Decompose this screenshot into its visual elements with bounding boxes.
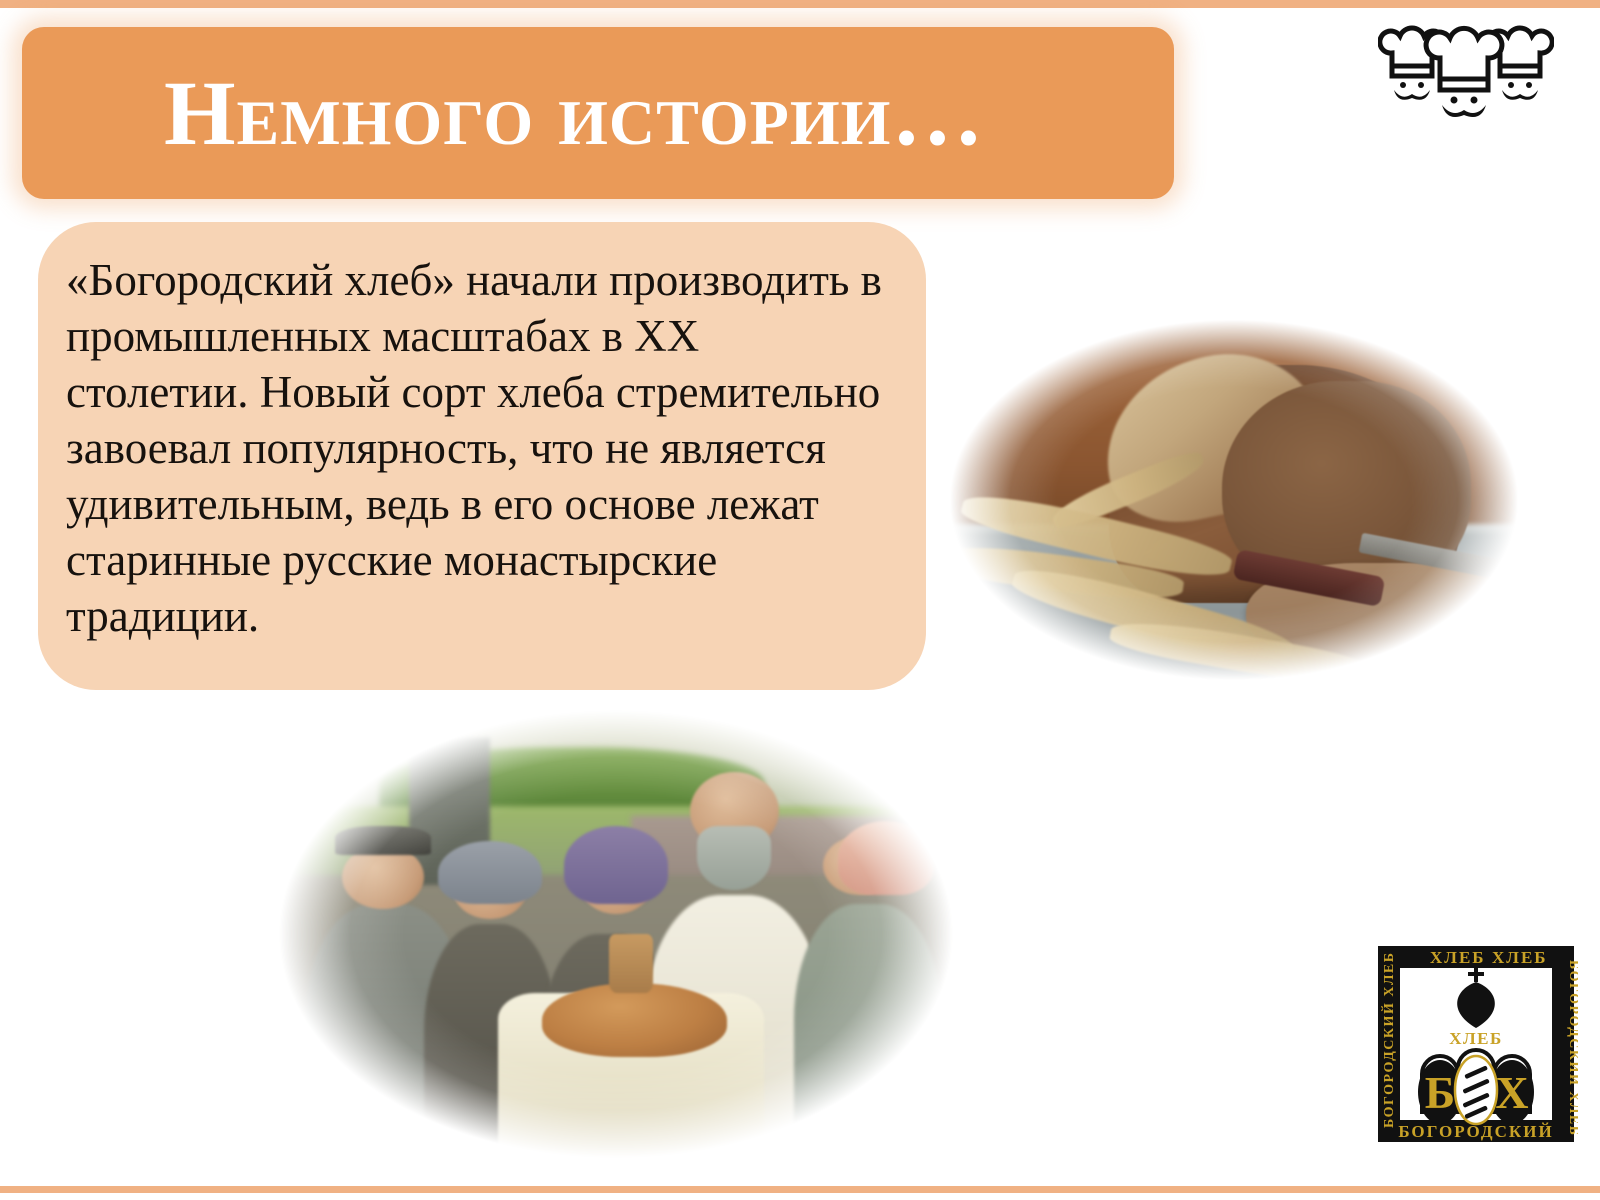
title-bar: Немного истории… bbox=[22, 27, 1174, 199]
body-text-panel: «Богородский хлеб» начали производить в … bbox=[38, 222, 926, 690]
bogorodsky-khleb-logo: ХЛЕБ ХЛЕБ БОГОРОДСКИЙ БОГОРОДСКИЙ ХЛЕБ Б… bbox=[1374, 942, 1578, 1146]
painting-figure-cap bbox=[335, 826, 431, 856]
painting-scene bbox=[246, 688, 986, 1180]
page-title: Немного истории… bbox=[22, 67, 984, 159]
painting-image bbox=[246, 688, 986, 1180]
painting-round-loaf bbox=[542, 983, 727, 1057]
top-accent-strip bbox=[0, 0, 1600, 8]
logo-monogram-right: Х bbox=[1495, 1067, 1528, 1118]
logo-left-side-text: БОГОРОДСКИЙ ХЛЕБ bbox=[1380, 952, 1397, 1128]
logo-dome-label: ХЛЕБ bbox=[1449, 1029, 1503, 1048]
painting-figure-kerchief bbox=[838, 821, 934, 895]
bottom-accent-strip bbox=[0, 1186, 1600, 1193]
slide: Немного истории… bbox=[0, 0, 1600, 1200]
painting-figure-kerchief bbox=[438, 841, 542, 905]
painting-elder-beard bbox=[697, 826, 771, 890]
logo-right-side-text: БОГОРОДСКИЙ ХЛЕБ bbox=[1566, 960, 1578, 1136]
logo-top-left-word: ХЛЕБ bbox=[1430, 948, 1486, 967]
painting-salt-shaker bbox=[609, 934, 653, 993]
bread-photo-scene bbox=[922, 302, 1546, 698]
logo-monogram-left: Б bbox=[1425, 1067, 1455, 1118]
logo-top-right-word: ХЛЕБ bbox=[1492, 948, 1548, 967]
chef-hats-icon bbox=[1378, 22, 1554, 118]
painting-figure-kerchief bbox=[564, 826, 668, 905]
painting-figure bbox=[794, 904, 942, 1180]
body-text: «Богородский хлеб» начали производить в … bbox=[66, 252, 892, 644]
painting-figure-head bbox=[342, 845, 423, 909]
bread-photo bbox=[922, 302, 1546, 698]
